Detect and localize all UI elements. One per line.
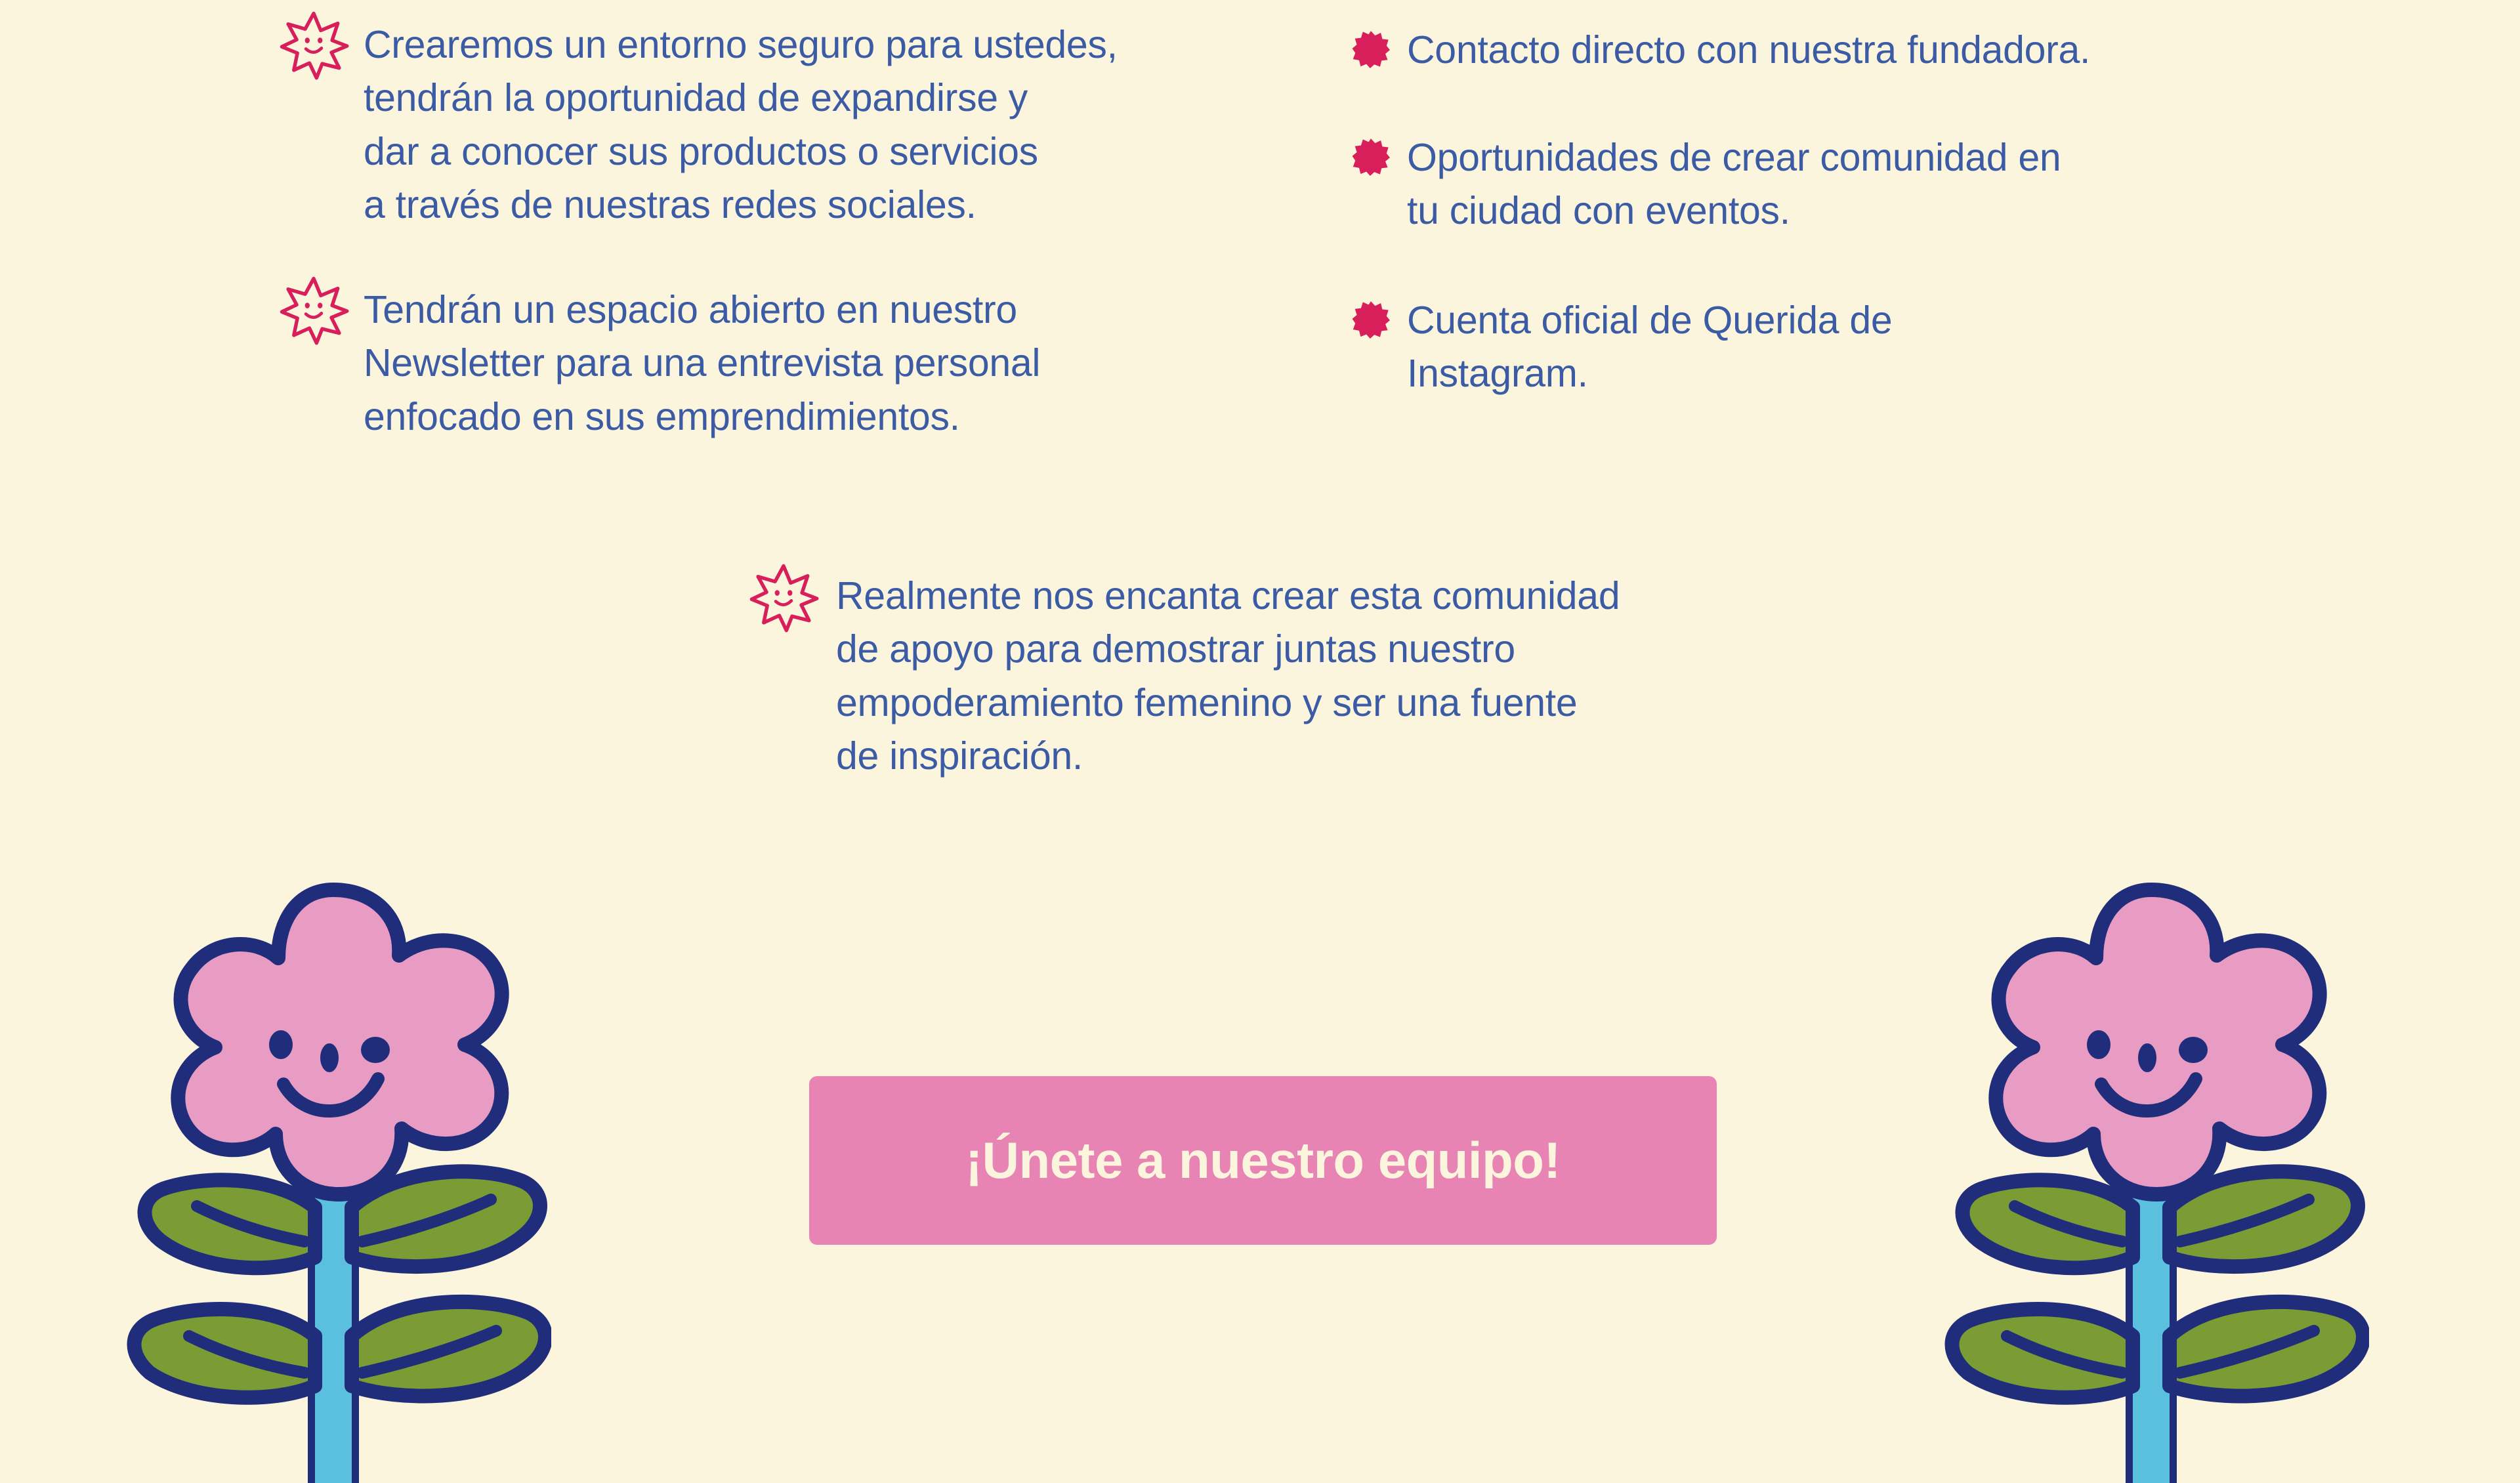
smiley-star-outline-icon bbox=[748, 562, 819, 633]
smiley-flower-illustration bbox=[118, 879, 551, 1483]
benefit-text: Tendrán un espacio abierto en nuestro Ne… bbox=[364, 283, 1040, 444]
benefit-item-right-3: Cuenta oficial de Querida de Instagram. bbox=[1352, 294, 1892, 401]
smiley-star-outline-icon bbox=[278, 274, 349, 345]
benefit-text: Crearemos un entorno seguro para ustedes… bbox=[364, 18, 1118, 232]
starburst-filled-icon bbox=[1352, 138, 1390, 176]
benefit-item-left-2: Tendrán un espacio abierto en nuestro Ne… bbox=[278, 283, 1040, 444]
page-canvas: Crearemos un entorno seguro para ustedes… bbox=[0, 0, 2520, 1483]
smiley-star-outline-icon bbox=[278, 9, 349, 80]
starburst-filled-icon bbox=[1352, 30, 1390, 68]
benefit-item-right-2: Oportunidades de crear comunidad en tu c… bbox=[1352, 131, 2061, 238]
starburst-filled-icon bbox=[1352, 301, 1390, 339]
smiley-flower-illustration bbox=[1936, 879, 2369, 1483]
benefit-item-right-1: Contacto directo con nuestra fundadora. bbox=[1352, 24, 2090, 77]
benefit-text: Contacto directo con nuestra fundadora. bbox=[1407, 24, 2090, 77]
join-team-button[interactable]: ¡Únete a nuestro equipo! bbox=[809, 1076, 1717, 1245]
benefit-text: Oportunidades de crear comunidad en tu c… bbox=[1407, 131, 2061, 238]
benefit-text: Cuenta oficial de Querida de Instagram. bbox=[1407, 294, 1892, 401]
closing-statement-text: Realmente nos encanta crear esta comunid… bbox=[836, 570, 1620, 783]
benefit-item-left-1: Crearemos un entorno seguro para ustedes… bbox=[278, 18, 1118, 232]
closing-statement: Realmente nos encanta crear esta comunid… bbox=[748, 570, 1620, 783]
